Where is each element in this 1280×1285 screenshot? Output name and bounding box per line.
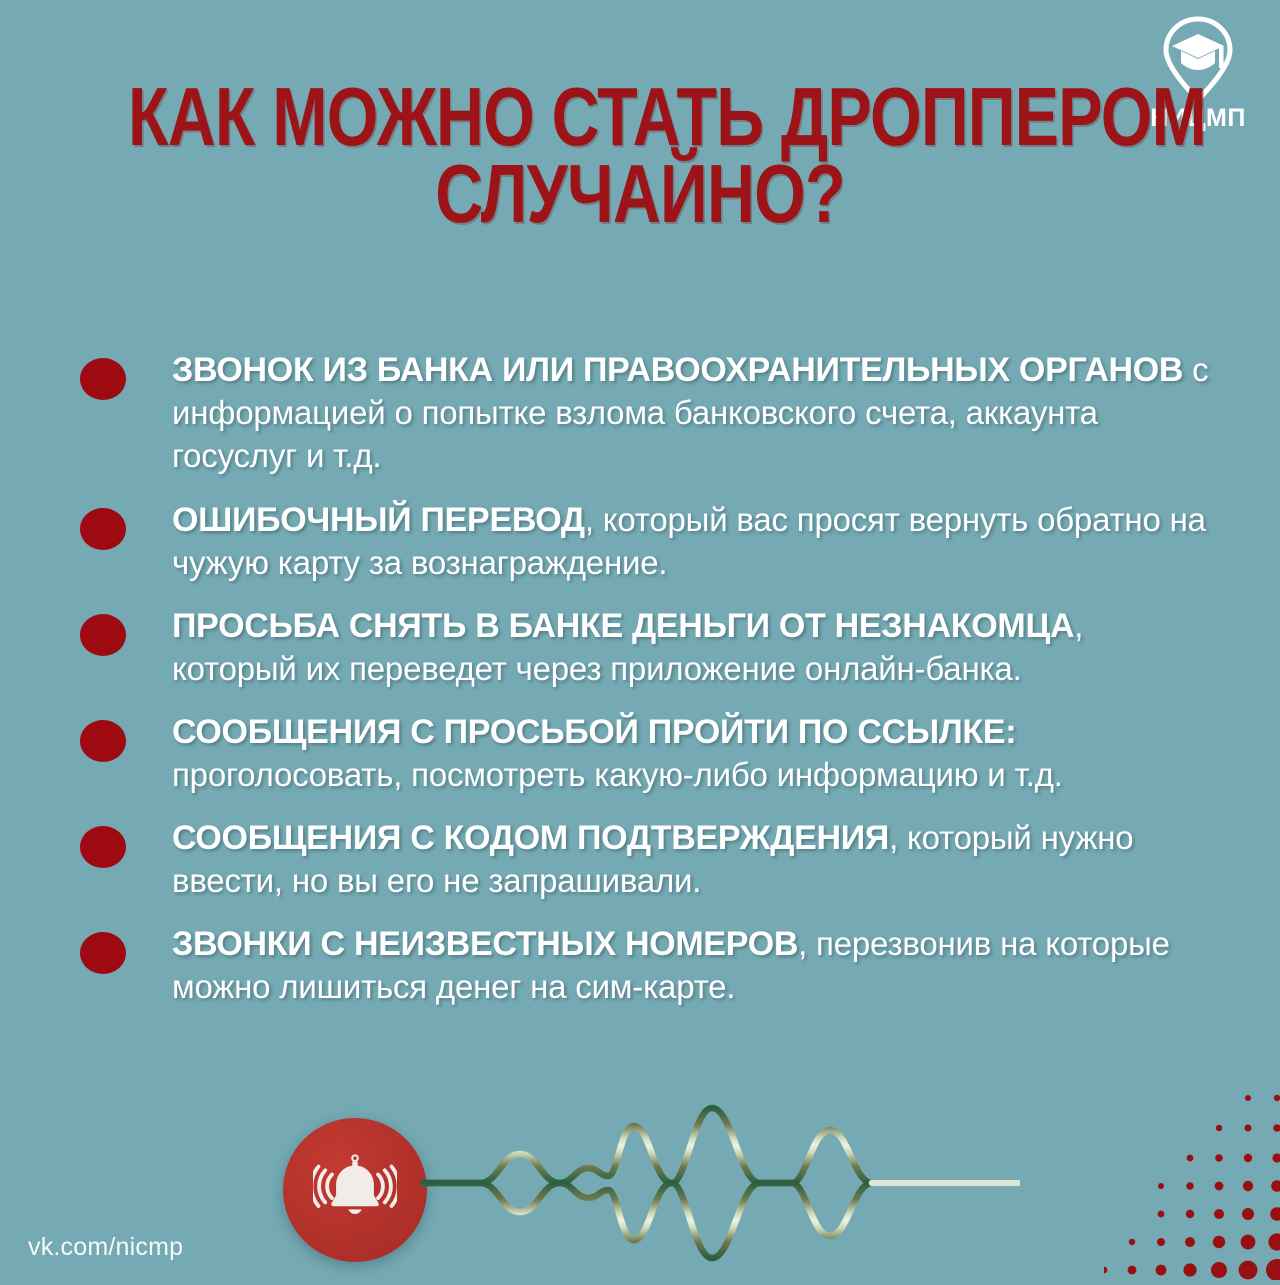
red-dot-bullet-icon [80,358,126,400]
red-dot-bullet-icon [80,508,126,550]
red-dot-bullet-icon [80,720,126,762]
ringing-bell-icon [313,1146,397,1235]
list-item: ЗВОНОК ИЗ БАНКА ИЛИ ПРАВООХРАНИТЕЛЬНЫХ О… [80,348,1210,478]
infographic-poster: { "brand": { "logo_icon": "map-pin-gradu… [0,0,1280,1280]
list-item-highlight: ЗВОНКИ С НЕИЗВЕСТНЫХ НОМЕРОВ [172,925,798,963]
list-item-text: ЗВОНКИ С НЕИЗВЕСТНЫХ НОМЕРОВ, перезвонив… [172,922,1210,1009]
list-item: СООБЩЕНИЯ С КОДОМ ПОДТВЕРЖДЕНИЯ, который… [80,816,1210,903]
list-item-text: СООБЩЕНИЯ С КОДОМ ПОДТВЕРЖДЕНИЯ, который… [172,816,1210,903]
page-title: КАК МОЖНО СТАТЬ ДРОППЕРОМ СЛУЧАЙНО? [128,78,1152,232]
list-item-rest: проголосовать, посмотреть какую-либо инф… [172,756,1063,793]
list-item-highlight: СООБЩЕНИЯ С ПРОСЬБОЙ ПРОЙТИ ПО ССЫЛКЕ: [172,713,1016,751]
alert-bell-badge [283,1118,427,1262]
list-item: ЗВОНКИ С НЕИЗВЕСТНЫХ НОМЕРОВ, перезвонив… [80,922,1210,1009]
list-item: ПРОСЬБА СНЯТЬ В БАНКЕ ДЕНЬГИ ОТ НЕЗНАКОМ… [80,604,1210,691]
page-title-line-2: СЛУЧАЙНО? [128,155,1152,232]
red-dot-bullet-icon [80,826,126,868]
list-item-highlight: ОШИБОЧНЫЙ ПЕРЕВОД [172,501,585,539]
footer-link[interactable]: vk.com/nicmp [28,1233,183,1262]
list-item-text: ОШИБОЧНЫЙ ПЕРЕВОД, который вас просят ве… [172,498,1210,585]
sound-waveform-icon [420,1098,1020,1268]
list-item-highlight: ЗВОНОК ИЗ БАНКА ИЛИ ПРАВООХРАНИТЕЛЬНЫХ О… [172,351,1183,389]
list-item-text: ЗВОНОК ИЗ БАНКА ИЛИ ПРАВООХРАНИТЕЛЬНЫХ О… [172,348,1210,478]
list-item-highlight: СООБЩЕНИЯ С КОДОМ ПОДТВЕРЖДЕНИЯ [172,819,889,857]
red-dot-bullet-icon [80,614,126,656]
page-title-line-1: КАК МОЖНО СТАТЬ ДРОППЕРОМ [128,78,1152,155]
list-item: ОШИБОЧНЫЙ ПЕРЕВОД, который вас просят ве… [80,498,1210,585]
red-dot-bullet-icon [80,932,126,974]
risk-list: ЗВОНОК ИЗ БАНКА ИЛИ ПРАВООХРАНИТЕЛЬНЫХ О… [80,348,1210,1023]
list-item-highlight: ПРОСЬБА СНЯТЬ В БАНКЕ ДЕНЬГИ ОТ НЕЗНАКОМ… [172,607,1074,645]
triangular-dot-grid-icon [1104,1090,1280,1280]
list-item-text: СООБЩЕНИЯ С ПРОСЬБОЙ ПРОЙТИ ПО ССЫЛКЕ: п… [172,710,1210,797]
list-item-text: ПРОСЬБА СНЯТЬ В БАНКЕ ДЕНЬГИ ОТ НЕЗНАКОМ… [172,604,1210,691]
list-item: СООБЩЕНИЯ С ПРОСЬБОЙ ПРОЙТИ ПО ССЫЛКЕ: п… [80,710,1210,797]
